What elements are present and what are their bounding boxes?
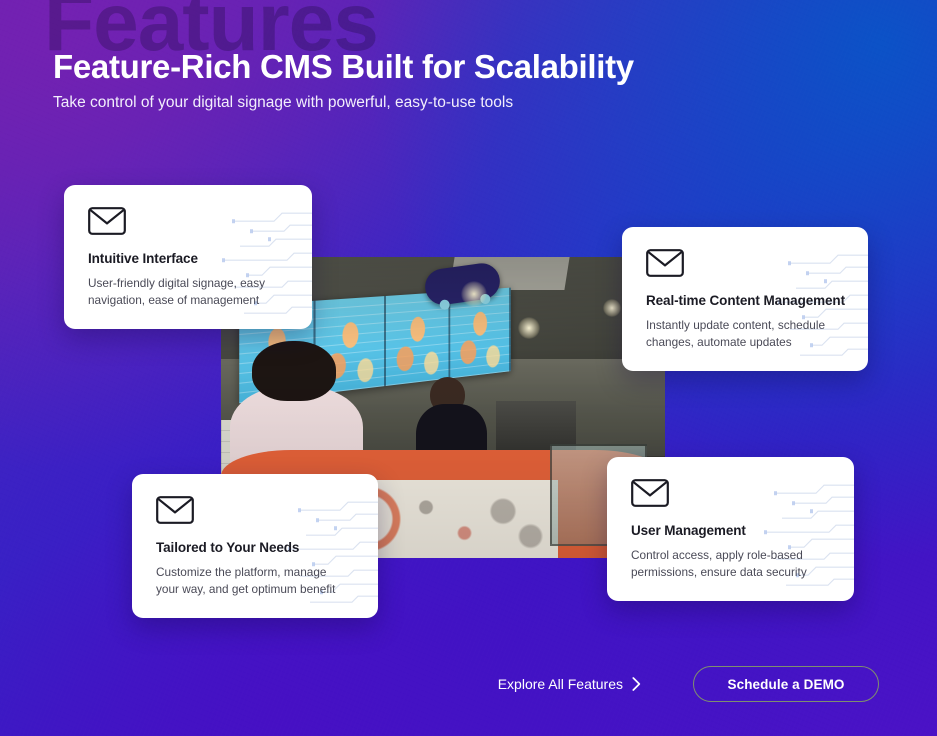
envelope-icon	[156, 496, 194, 524]
feature-card-title: Tailored to Your Needs	[156, 540, 354, 555]
page-subtitle: Take control of your digital signage wit…	[53, 94, 634, 112]
feature-card-title: Real-time Content Management	[646, 293, 844, 308]
explore-all-features-label: Explore All Features	[498, 676, 623, 692]
schedule-demo-button[interactable]: Schedule a DEMO	[693, 666, 879, 702]
page-title: Feature-Rich CMS Built for Scalability	[53, 44, 634, 90]
feature-card-content: Intuitive Interface User-friendly digita…	[64, 185, 312, 329]
cta-row: Explore All Features Schedule a DEMO	[0, 666, 937, 702]
envelope-icon	[88, 207, 126, 235]
feature-card-user-management[interactable]: User Management Control access, apply ro…	[607, 457, 854, 601]
chevron-right-icon	[632, 677, 641, 691]
envelope-icon	[646, 249, 684, 277]
feature-card-tailored-to-your-needs[interactable]: Tailored to Your Needs Customize the pla…	[132, 474, 378, 618]
feature-card-content: Tailored to Your Needs Customize the pla…	[132, 474, 378, 618]
feature-card-title: User Management	[631, 523, 830, 538]
explore-all-features-link[interactable]: Explore All Features	[498, 676, 641, 692]
feature-card-description: Customize the platform, manage your way,…	[156, 564, 346, 598]
feature-card-title: Intuitive Interface	[88, 251, 288, 266]
feature-card-intuitive-interface[interactable]: Intuitive Interface User-friendly digita…	[64, 185, 312, 329]
feature-card-content: Real-time Content Management Instantly u…	[622, 227, 868, 371]
hero-heading-block: Feature-Rich CMS Built for Scalability T…	[53, 44, 634, 112]
feature-card-description: User-friendly digital signage, easy navi…	[88, 275, 278, 309]
feature-card-description: Instantly update content, schedule chang…	[646, 317, 836, 351]
feature-card-description: Control access, apply role-based permiss…	[631, 547, 821, 581]
feature-card-content: User Management Control access, apply ro…	[607, 457, 854, 601]
feature-card-real-time-content-management[interactable]: Real-time Content Management Instantly u…	[622, 227, 868, 371]
envelope-icon	[631, 479, 669, 507]
